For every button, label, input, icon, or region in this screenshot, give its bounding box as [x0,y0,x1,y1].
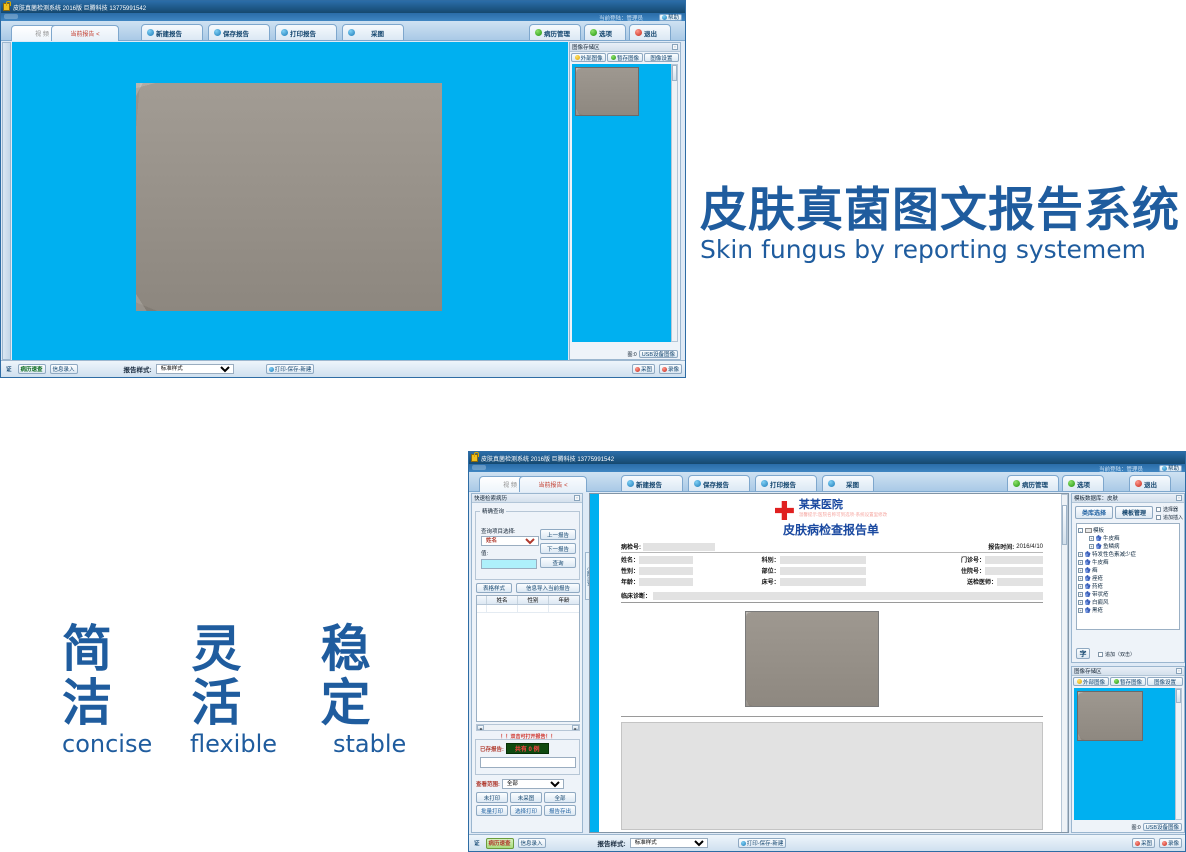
field-input-department[interactable] [780,556,866,564]
temp-image-icon-2 [1114,679,1119,684]
scrollbar-thumb[interactable] [672,65,677,81]
tree-item-label: 癣 [1092,566,1098,574]
gem-icon [1096,543,1102,549]
feature-en-2: stable [333,730,406,758]
report-time-value: 2016/4/10 [1016,544,1043,550]
record-dot-icon-2 [1162,841,1167,846]
print-save-new-button-2[interactable]: 打印-保存-新建 [738,838,787,848]
options-icon-2 [1068,480,1075,487]
tree-expander-icon[interactable]: + [1078,568,1083,573]
cert-button-2[interactable]: 证 [472,838,482,848]
template-database-panel: 模板数据库：皮肤 ▫ 类库选择 模板管理 选择器 追加插入 - 模板 + 牛皮癣 [1071,493,1185,663]
record-button[interactable]: 录像 [659,364,682,374]
report-style-select[interactable]: 标准样式简洁样式自定义样式 [156,364,234,374]
col-age: 年龄 [549,596,579,604]
gem-icon [1085,575,1091,581]
cell-gender [518,605,549,612]
tab-video-2-label: 视 频 [503,480,517,489]
microscope-image [136,83,442,311]
template-panel-title: 模板数据库：皮肤 [1074,494,1118,502]
tree-expander-icon[interactable]: + [1078,592,1083,597]
field-label-site: 部位： [762,566,780,575]
query-button[interactable]: 查询 [540,557,576,568]
table-style-button[interactable]: 表格样式 [476,583,512,593]
marketing-headline-cn: 皮肤真菌图文报告系统 [700,186,1186,236]
print-report-label-2: 打印报告 [770,479,796,489]
field-label-age: 年龄： [621,577,639,586]
template-panel-title-bar: 模板数据库：皮肤 ▫ [1072,494,1184,503]
save-report-button[interactable]: 保存报告 [208,24,270,41]
new-report-button[interactable]: 新建报告 [141,24,203,41]
tab-current-report[interactable]: 当前报告 < [51,25,119,41]
precise-query-legend: 精确查询 [480,507,506,515]
video-preview-area[interactable] [12,42,568,360]
new-report-icon-2 [627,480,634,487]
print-report-button[interactable]: 打印报告 [275,24,337,41]
record-label-2: 录像 [1168,839,1179,847]
marketing-headline-en: Skin fungus by reporting systemem [700,236,1186,264]
image-settings-button-2[interactable]: 图像设置 [1147,677,1183,686]
help-label: 帮助 [668,13,679,21]
field-input-name[interactable] [639,556,693,564]
template-panel-collapse-icon[interactable]: ▫ [1176,495,1182,501]
stored-report-value: 共有 0 例 [506,743,549,754]
report-header: 某某医院 温馨提示:医院名称可到选项-系统设置里修改 [599,499,1063,520]
tree-item-label: 牛皮癣 [1092,558,1109,566]
report-page-scrollbar[interactable] [1061,494,1068,833]
tab-current-report-2[interactable]: 当前报告 < [519,476,587,492]
library-select-button[interactable]: 类库选择 [1075,506,1113,519]
tree-item[interactable]: + 牛皮癣 [1078,558,1178,566]
field-input-age[interactable] [639,578,693,586]
tree-item[interactable]: + 药疮 [1078,582,1178,590]
stored-thumbnail-2[interactable] [1077,691,1143,741]
tree-item-label: 痤疮 [1092,574,1103,582]
append-dblclick-checkbox-box[interactable] [1098,652,1103,657]
gem-icon [1085,591,1091,597]
capture-label: 采图 [641,365,652,373]
col-gender: 性别 [518,596,549,604]
image-store-list[interactable] [572,64,673,342]
tab-case-management-label: 病历管理 [544,28,570,38]
tree-expander-icon[interactable]: + [1089,536,1094,541]
cell-age [549,605,579,612]
quick-search-panel: 快速检索病历 ▫ 精确查询 查询项目选择: 姓名性别年龄病检号门诊号 值: 上一… [471,493,583,833]
field-label-inpatient-no: 住院号： [961,566,985,575]
temp-image-button-2[interactable]: 暂存图像 [1110,677,1146,686]
title-bar: 皮肤真菌检测系统 2016版 巨腾科技 13775991542 [1,1,685,13]
exit-icon [635,29,642,36]
temp-image-label: 暂存图像 [617,54,639,62]
new-report-button-2[interactable]: 新建报告 [621,475,683,492]
stored-thumbnail[interactable] [575,67,639,116]
tab-options-2-label: 选项 [1077,479,1090,489]
app-window-report: 皮肤真菌检测系统 2016版 巨腾科技 13775991542 当前登陆：管理员… [468,451,1186,852]
hospital-name: 某某医院 [799,499,887,512]
panel-collapse-icon[interactable]: ▫ [672,44,678,50]
gem-icon [1085,567,1091,573]
results-table-header: 姓名 性别 年龄 [477,596,579,605]
image-store-list-2[interactable] [1074,688,1177,820]
filter-uncaptured-button[interactable]: 未采图 [510,792,542,803]
filter-unprinted-button[interactable]: 未打印 [476,792,508,803]
gem-icon [1085,583,1091,589]
external-image-label: 外部图像 [581,54,603,62]
usb-device-image-button-2[interactable]: USB设备图像 [1143,823,1182,831]
marketing-headline-block: 皮肤真菌图文报告系统 Skin fungus by reporting syst… [700,186,1186,264]
exit-icon-2 [1135,480,1142,487]
field-label-name: 姓名： [621,555,639,564]
hscroll-left-arrow[interactable]: ◂ [477,725,484,730]
print-report-icon-2 [761,480,768,487]
tree-item-label: 药疮 [1092,582,1103,590]
status-bar: 证 病历速查 信息录入 报告样式: 标准样式简洁样式自定义样式 打印-保存-新建… [1,360,685,377]
report-style-label-2: 报告样式: [598,838,626,848]
report-scrollbar-thumb[interactable] [1062,505,1067,545]
save-report-icon [214,29,221,36]
report-time-label: 报告时间: [988,542,1014,551]
row-handle-column [477,596,487,604]
selector-checkbox-label: 选择器 [1163,506,1178,513]
stored-report-label: 已存报告: [480,745,504,753]
usb-device-image-label: USB设备图像 [642,350,675,358]
quick-search-collapse-icon[interactable]: ▫ [574,495,580,501]
field-select-label: 查询项目选择: [481,527,516,535]
new-report-label-2: 新建报告 [636,479,662,489]
print-save-new-label-2: 打印-保存-新建 [747,839,784,847]
image-store-panel: 图像存储区 ▫ 外部图像 暂存图像 图像设置 图:0 USB设备图像 [569,42,681,360]
features-en-row: concise flexible stable [62,730,422,758]
capture-image-label-2: 采图 [846,479,859,489]
cell-name [487,605,518,612]
help-button[interactable]: 帮助 [659,14,682,21]
tree-item[interactable]: + 痤疮 [1078,574,1178,582]
report-page[interactable]: 某某医院 温馨提示:医院名称可到选项-系统设置里修改 皮肤病检查报告单 病检号:… [599,494,1063,833]
field-input-outpatient-no[interactable] [985,556,1043,564]
report-meta-row: 病检号: 报告时间: 2016/4/10 [621,542,1043,553]
quick-search-button[interactable]: 病历速查 [18,364,46,374]
tab-video-label: 视 频 [35,29,49,38]
capture-button-2[interactable]: 采图 [1132,838,1155,848]
help-icon-2 [1162,466,1167,471]
tree-expander-icon[interactable]: + [1089,544,1094,549]
tree-item[interactable]: + 带状疮 [1078,590,1178,598]
tree-item[interactable]: + 特发性色素减少症 [1078,550,1178,558]
tree-item-label: 白癜风 [1092,598,1109,606]
help-label-2: 帮助 [1168,464,1179,472]
logo-bar-2: 当前登陆：管理员 帮助 [469,464,1185,472]
quick-search-title: 快速检索病历 [474,494,507,502]
append-dblclick-checkbox[interactable]: 追加（双击） [1098,651,1135,658]
diagnosis-row: 临床诊断： [621,591,1043,603]
tab-options-2[interactable]: 选项 [1062,475,1104,492]
quick-search-title-bar: 快速检索病历 ▫ [472,494,582,503]
temp-image-button[interactable]: 暂存图像 [607,53,642,62]
capture-image-button[interactable]: 采图 [342,24,404,41]
tree-expander-icon[interactable]: + [1078,600,1083,605]
stored-report-group: 已存报告: 共有 0 例 [475,739,580,775]
case-management-icon-2 [1013,480,1020,487]
tab-options[interactable]: 选项 [584,24,626,41]
template-manage-button[interactable]: 模板管理 [1115,506,1153,519]
report-title: 皮肤病检查报告单 [599,521,1063,538]
value-label: 值: [481,549,488,557]
field-select[interactable]: 姓名性别年龄病检号门诊号 [481,536,539,546]
selector-checkbox-box[interactable] [1156,507,1161,512]
tab-current-report-label: 当前报告 < [70,29,99,38]
report-left-margin [590,494,599,833]
report-style-label: 报告样式: [124,364,152,374]
tree-expander-icon[interactable]: + [1078,608,1083,613]
tab-exit[interactable]: 退出 [629,24,671,41]
print-save-new-button[interactable]: 打印-保存-新建 [266,364,315,374]
tree-item-label: 鱼鳞病 [1103,542,1120,550]
row-handle [477,605,487,612]
hscroll-right-arrow[interactable]: ▸ [572,725,579,730]
tab-exit-2-label: 退出 [1144,479,1157,489]
image-settings-label: 图像设置 [650,54,672,62]
capture-dot-icon-2 [1135,841,1140,846]
gem-icon [1085,607,1091,613]
gem-icon [1096,535,1102,541]
capture-image-button-2[interactable]: 采图 [822,475,874,492]
image-count-label-2: 图:0 [1132,824,1141,831]
image-store-2-collapse-icon[interactable]: ▫ [1176,668,1182,674]
help-button-2[interactable]: 帮助 [1159,465,1182,472]
image-settings-button[interactable]: 图像设置 [644,53,679,62]
tree-item[interactable]: + 白癜风 [1078,598,1178,606]
hospital-note: 温馨提示:医院名称可到选项-系统设置里修改 [799,512,887,518]
capture-image-icon-2 [828,480,835,487]
info-entry-button[interactable]: 信息录入 [50,364,78,374]
save-report-icon-2 [694,480,701,487]
image-store-2-scrollbar[interactable] [1175,688,1182,820]
feature-cn-1: 灵活 [191,622,292,730]
field-input-inpatient-no[interactable] [985,567,1043,575]
diagnosis-label: 临床诊断： [621,591,651,600]
results-table[interactable]: 姓名 性别 年龄 [476,595,580,722]
title-bar-2: 皮肤真菌检测系统 2016版 巨腾科技 13775991542 [469,452,1185,464]
image-store-title: 图像存储区 [572,43,600,51]
field-input-referring-doctor[interactable] [997,578,1043,586]
findings-textarea[interactable] [621,722,1043,830]
capture-dot-icon [635,367,640,372]
tab-current-report-2-label: 当前报告 < [538,480,567,489]
field-label-department: 科别： [762,555,780,564]
capture-button[interactable]: 采图 [632,364,655,374]
next-report-button[interactable]: 下一报告 [540,543,576,554]
save-report-label: 保存报告 [223,28,249,38]
tree-item-label: 黑疮 [1092,606,1103,614]
print-save-new-icon-2 [741,841,746,846]
tree-item-label: 牛皮癣 [1103,534,1120,542]
report-divider [621,716,1043,717]
template-tree[interactable]: - 模板 + 牛皮癣 + 鱼鳞病 + 特发性色素减少症 + [1076,523,1180,630]
image-settings-label-2: 图像设置 [1154,678,1176,686]
folder-icon [1085,528,1092,533]
field-input-bed-no[interactable] [780,578,866,586]
tree-item[interactable]: + 牛皮癣 [1078,534,1178,542]
gem-icon [1085,559,1091,565]
image-store-title-bar: 图像存储区 ▫ [570,43,680,52]
feature-cn-0: 简洁 [62,622,163,730]
report-preview-area[interactable]: 某某医院 温馨提示:医院名称可到选项-系统设置里修改 皮肤病检查报告单 病检号:… [589,493,1069,833]
status-bar-2: 证 病历速查 信息录入 报告样式: 标准样式简洁样式自定义样式 打印-保存-新建… [469,834,1185,851]
features-cn-row: 简洁 灵活 稳定 [62,622,422,730]
marketing-features-block: 简洁 灵活 稳定 concise flexible stable [62,622,422,758]
field-input-site[interactable] [780,567,866,575]
case-management-icon [535,29,542,36]
new-report-label: 新建报告 [156,28,182,38]
external-image-button[interactable]: 外部图像 [571,53,606,62]
select-print-button[interactable]: 选择打印 [510,805,542,816]
stored-report-note-input[interactable] [480,757,576,768]
gem-icon [1085,599,1091,605]
lock-icon [3,3,10,11]
append-insert-checkbox-box[interactable] [1156,515,1161,520]
record-label: 录像 [668,365,679,373]
tab-options-label: 选项 [599,28,612,38]
field-label-gender: 性别： [621,566,639,575]
app-title-2: 皮肤真菌检测系统 2016版 巨腾科技 13775991542 [481,454,614,463]
tree-item[interactable]: + 黑疮 [1078,606,1178,614]
diagnosis-field[interactable] [653,592,1043,600]
tab-exit-2[interactable]: 退出 [1129,475,1171,492]
batch-print-button[interactable]: 批量打印 [476,805,508,816]
patient-fields-grid: 姓名： 科别： 门诊号： 性别： 部位： [621,555,1043,586]
tab-case-management-2-label: 病历管理 [1022,479,1048,489]
app-window-video: 皮肤真菌检测系统 2016版 巨腾科技 13775991542 当前登陆：管理员… [0,0,686,378]
quick-search-button-2[interactable]: 病历速查 [486,838,514,849]
gem-icon [1085,551,1091,557]
tree-item[interactable]: + 鱼鳞病 [1078,542,1178,550]
usb-device-image-button[interactable]: USB设备图像 [639,350,678,358]
case-no-label: 病检号: [621,542,641,551]
image-store-2-title: 图像存储区 [1074,667,1102,675]
record-button-2[interactable]: 录像 [1159,838,1182,848]
save-report-label-2: 保存报告 [703,479,729,489]
filter-all-button[interactable]: 全部 [544,792,576,803]
external-image-button-2[interactable]: 外部图像 [1073,677,1109,686]
tree-expander-icon[interactable]: + [1078,576,1083,581]
print-save-new-label: 打印-保存-新建 [275,365,312,373]
font-button[interactable]: 字 [1076,648,1090,659]
append-dblclick-checkbox-label: 追加（双击） [1105,651,1135,658]
precise-query-group: 精确查询 查询项目选择: 姓名性别年龄病检号门诊号 值: 上一报告 下一报告 查… [475,507,580,580]
report-image[interactable] [745,611,879,707]
help-icon [662,15,667,20]
record-dot-icon [662,367,667,372]
capture-image-label: 采图 [371,28,384,38]
main-tab-strip: 视 频 当前报告 < 新建报告 保存报告 打印报告 采图 病历管理 选项 [1,21,685,41]
case-no-field[interactable] [643,543,715,551]
tree-item-label: 带状疮 [1092,590,1109,598]
left-vertical-toolbar[interactable] [2,42,11,360]
report-style-select-2[interactable]: 标准样式简洁样式自定义样式 [630,838,708,848]
prev-report-button[interactable]: 上一报告 [540,529,576,540]
feature-en-0: concise [62,730,162,758]
logo-bar: 当前登陆：管理员 帮助 [1,13,685,21]
field-label-bed-no: 床号： [762,577,780,586]
export-report-button[interactable]: 报告存出 [544,805,576,816]
new-report-icon [147,29,154,36]
tree-item-label: 模板 [1093,526,1104,534]
main-tab-strip-2: 视 频 当前报告 < 新建报告 保存报告 打印报告 采图 病历管理 选项 [469,472,1185,492]
field-input-gender[interactable] [639,567,693,575]
append-insert-checkbox[interactable]: 追加插入 [1156,514,1183,521]
selector-checkbox[interactable]: 选择器 [1156,506,1178,513]
temp-image-label-2: 暂存图像 [1120,678,1142,686]
usb-device-image-label-2: USB设备图像 [1146,823,1179,831]
cert-button[interactable]: 证 [4,364,14,374]
temp-image-icon [611,55,616,60]
lock-icon-2 [471,454,478,462]
tree-expander-icon[interactable]: - [1078,528,1083,533]
results-table-hscroll[interactable]: ◂ ▸ [476,724,580,731]
tree-item[interactable]: - 模板 [1078,526,1178,534]
tree-item-label: 特发性色素减少症 [1092,550,1136,558]
external-image-icon [575,55,580,60]
capture-image-icon [348,29,355,36]
col-name: 姓名 [487,596,518,604]
scope-label: 查看范围: [476,780,500,788]
image-store-panel-2: 图像存储区 ▫ 外部图像 暂存图像 图像设置 图:0 USB设备图像 [1071,666,1185,833]
print-save-new-icon [269,367,274,372]
value-input[interactable] [481,559,537,569]
tab-exit-label: 退出 [644,28,657,38]
feature-cn-2: 稳定 [321,622,422,730]
tree-item[interactable]: + 癣 [1078,566,1178,574]
field-label-outpatient-no: 门诊号： [961,555,985,564]
table-row[interactable] [477,605,579,613]
scope-select[interactable]: 全部今天本周本月 [502,779,564,789]
tab-case-management-2[interactable]: 病历管理 [1007,475,1059,492]
image-store-2-title-bar: 图像存储区 ▫ [1072,667,1184,676]
capture-label-2: 采图 [1141,839,1152,847]
external-image-icon-2 [1077,679,1082,684]
image-store-scrollbar[interactable] [671,64,678,342]
app-title: 皮肤真菌检测系统 2016版 巨腾科技 13775991542 [13,3,146,12]
info-entry-button-2[interactable]: 信息录入 [518,838,546,848]
tree-expander-icon[interactable]: + [1078,560,1083,565]
print-report-label: 打印报告 [290,28,316,38]
import-to-current-button[interactable]: 信息导入当前报告 [516,583,580,593]
tree-expander-icon[interactable]: + [1078,552,1083,557]
feature-en-1: flexible [190,730,305,758]
image-count-label: 图:0 [628,351,637,358]
field-label-referring-doctor: 送检医师： [967,577,997,586]
print-report-button-2[interactable]: 打印报告 [755,475,817,492]
image-store-2-scrollbar-thumb[interactable] [1176,689,1181,703]
options-icon [590,29,597,36]
tab-case-management[interactable]: 病历管理 [529,24,581,41]
append-insert-checkbox-label: 追加插入 [1163,514,1183,521]
print-report-icon [281,29,288,36]
hospital-logo-icon [775,501,794,520]
save-report-button-2[interactable]: 保存报告 [688,475,750,492]
tree-expander-icon[interactable]: + [1078,584,1083,589]
external-image-label-2: 外部图像 [1083,678,1105,686]
